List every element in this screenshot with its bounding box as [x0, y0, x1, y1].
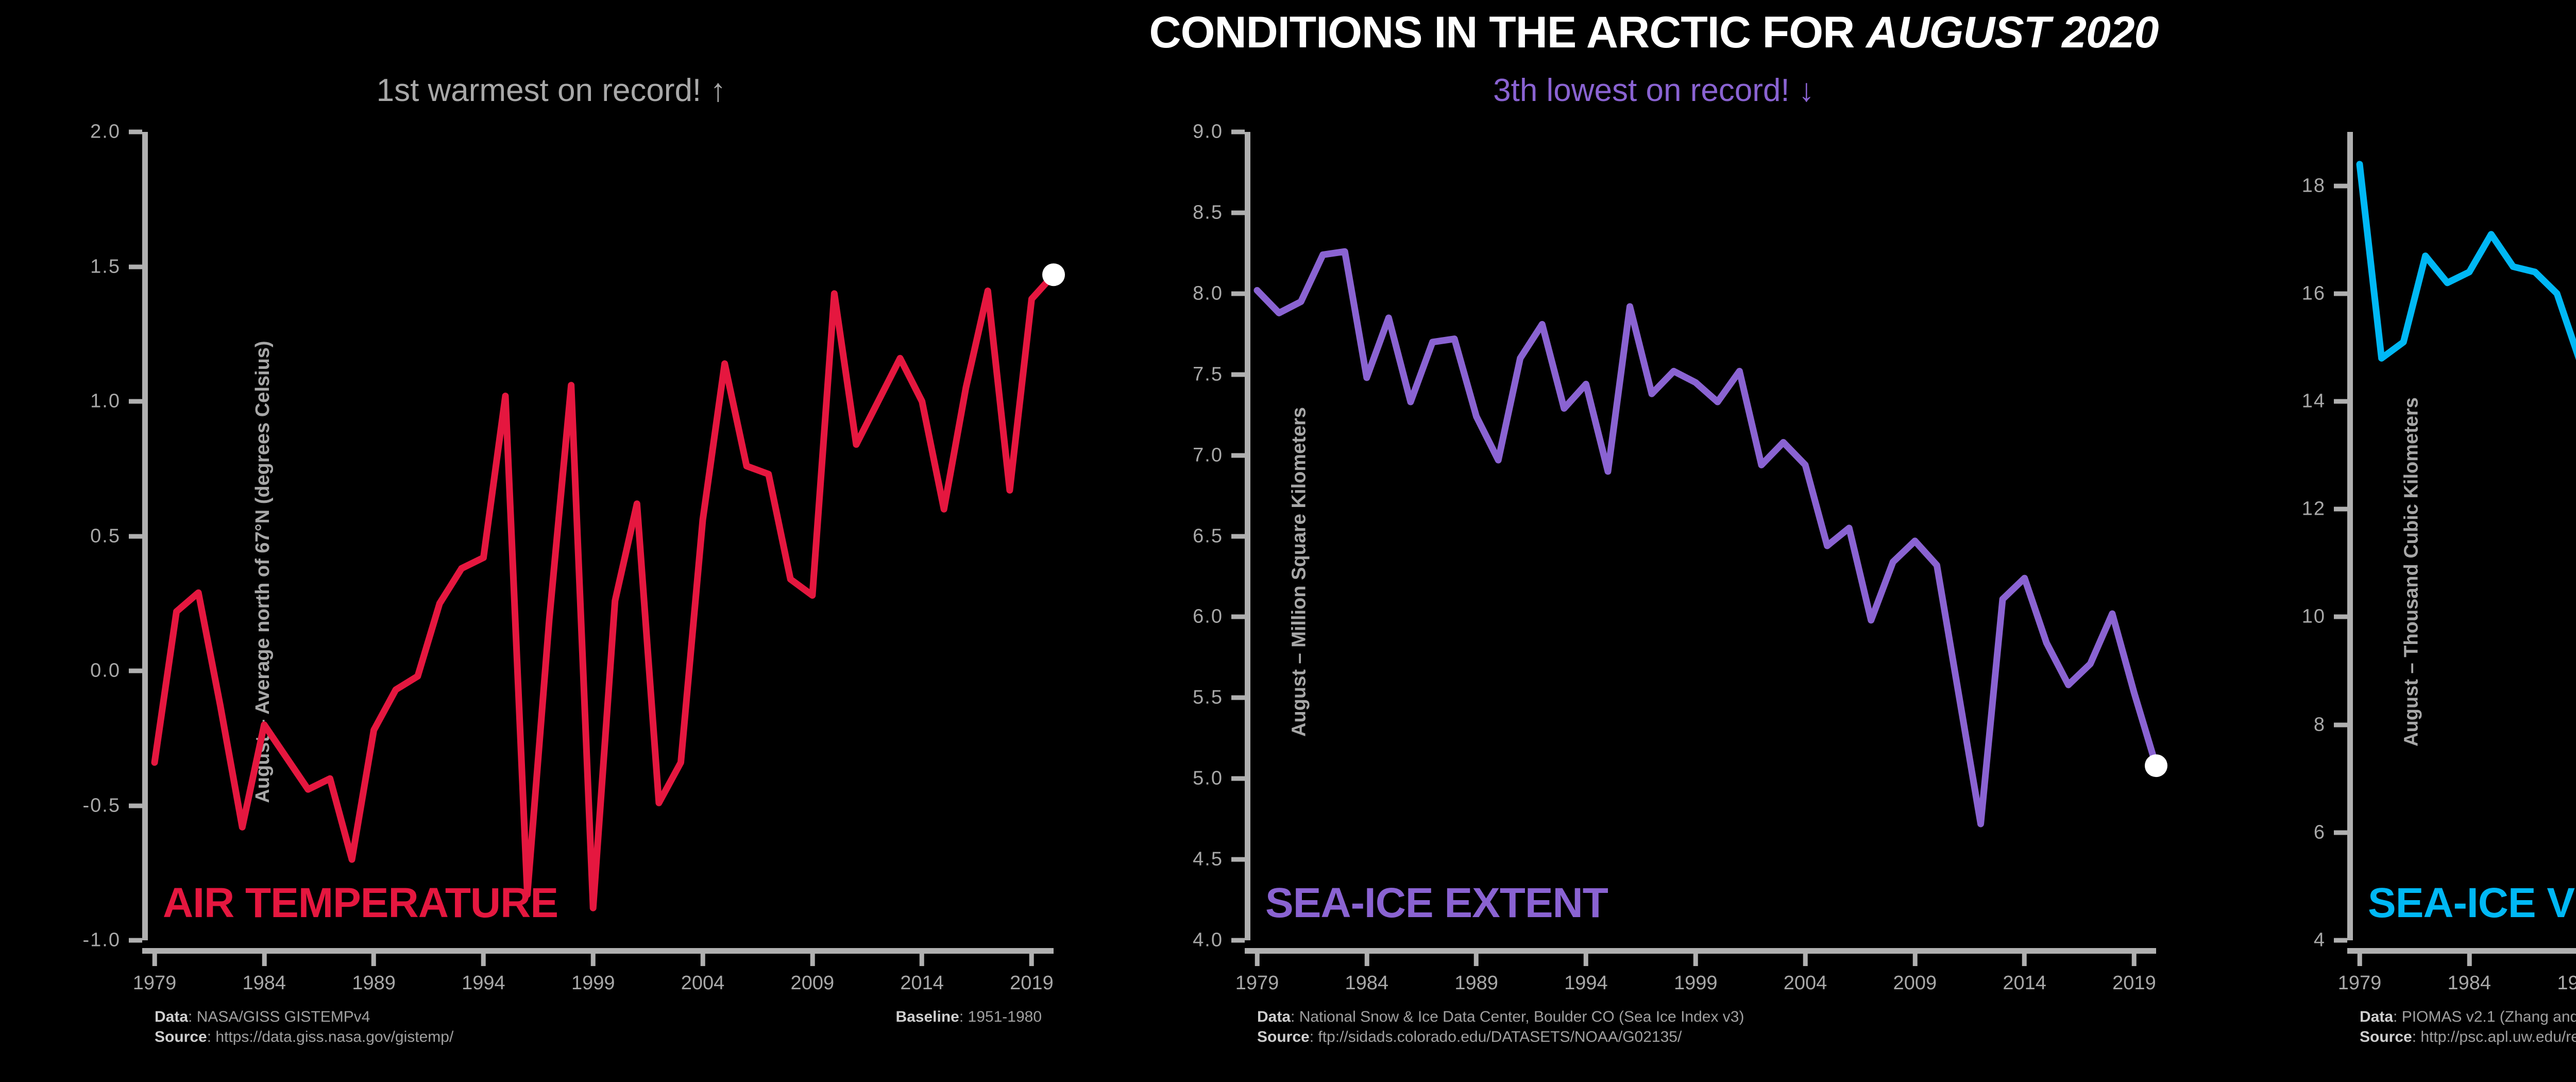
x-axis-tick: 2009	[1893, 954, 1937, 994]
y-axis-tick-mark	[129, 264, 142, 269]
x-axis-tick-label: 1989	[2557, 972, 2576, 994]
x-axis-tick-mark	[481, 954, 486, 966]
x-axis-tick: 1979	[2338, 954, 2382, 994]
series-label-sea-ice-volume: SEA-ICE VOLUME	[2368, 879, 2576, 927]
x-axis-tick-label: 2004	[1784, 972, 1827, 994]
y-axis-tick-label: -1.0	[83, 929, 121, 952]
footer-data-value: NASA/GISS GISTEMPv4	[197, 1008, 370, 1025]
y-axis-tick: 2.0	[90, 121, 142, 143]
y-axis-tick-mark	[1231, 696, 1245, 700]
y-axis-tick-label: 5.0	[1193, 768, 1223, 790]
footer-data-label: Data	[155, 1008, 188, 1025]
x-axis-tick: 1994	[1564, 954, 1608, 994]
y-axis-tick-mark	[1231, 130, 1245, 134]
x-axis-tick: 1994	[462, 954, 505, 994]
y-axis-tick: 14	[2302, 391, 2347, 413]
y-axis-tick-label: 1.0	[90, 391, 121, 413]
panel-air-temperature: 1st warmest on record! ↑ August – Averag…	[0, 67, 1103, 1077]
x-axis-tick: 1989	[2557, 954, 2576, 994]
y-axis-tick-mark	[1231, 615, 1245, 619]
latest-value-marker	[2145, 754, 2167, 777]
x-axis-tick: 1984	[243, 954, 286, 994]
y-axis-tick-mark	[129, 399, 142, 404]
y-axis-tick: 18	[2302, 175, 2347, 197]
y-axis-tick: 4.0	[1193, 929, 1245, 952]
y-axis-tick-mark	[1231, 291, 1245, 296]
x-axis-tick-label: 1989	[1454, 972, 1498, 994]
y-axis-tick: 8	[2314, 714, 2347, 736]
y-axis-tick: 7.5	[1193, 363, 1245, 385]
x-axis-tick: 1984	[2448, 954, 2492, 994]
y-axis-tick: 0.0	[90, 660, 142, 682]
y-axis-tick: 12	[2302, 498, 2347, 520]
plot-area-air-temperature: 2.01.51.00.50.0-0.5-1.019791984198919941…	[155, 132, 1054, 940]
plot-area-sea-ice-volume: 1816141210864197919841989199419992004200…	[2360, 132, 2576, 940]
y-axis-tick-mark	[2334, 615, 2347, 619]
x-axis-tick-label: 1989	[352, 972, 396, 994]
x-axis-tick: 1999	[571, 954, 615, 994]
footer-data-label: Data	[1257, 1008, 1291, 1025]
footer-source-value[interactable]: http://psc.apl.uw.edu/research/projects/…	[2420, 1028, 2576, 1045]
x-axis-tick-mark	[1255, 954, 1259, 966]
footer-source-value[interactable]: https://data.giss.nasa.gov/gistemp/	[215, 1028, 453, 1045]
y-axis-tick-mark	[1231, 372, 1245, 377]
y-axis-tick-label: 14	[2302, 391, 2326, 413]
panel-sea-ice-extent: 3th lowest on record! ↓ August – Million…	[1103, 67, 2205, 1077]
y-axis-tick-label: 7.0	[1193, 444, 1223, 466]
x-axis-tick: 2019	[2112, 954, 2156, 994]
x-axis-tick-label: 1979	[1235, 972, 1279, 994]
y-axis-tick-label: 8	[2314, 714, 2326, 736]
y-axis-tick-mark	[2334, 291, 2347, 296]
x-axis-tick-mark	[591, 954, 596, 966]
y-axis-tick-mark	[2334, 830, 2347, 835]
y-axis-tick-label: 6.5	[1193, 525, 1223, 547]
y-axis-tick: -0.5	[83, 794, 142, 817]
x-axis-tick-mark	[1584, 954, 1588, 966]
footer-data-value: PIOMAS v2.1 (Zhang and Rothrock, 2003; S…	[2402, 1008, 2576, 1025]
x-axis-tick-mark	[701, 954, 705, 966]
y-axis-tick-label: 16	[2302, 282, 2326, 305]
x-axis-tick-label: 1999	[1674, 972, 1718, 994]
footer-source-label: Source	[2360, 1028, 2412, 1045]
y-axis-spine	[1245, 132, 1250, 940]
footer-source-label: Source	[1257, 1028, 1310, 1045]
y-axis-tick: 8.0	[1193, 282, 1245, 305]
y-axis-tick: 1.0	[90, 391, 142, 413]
y-axis-tick-label: 8.5	[1193, 201, 1223, 224]
x-axis-tick: 1979	[1235, 954, 1279, 994]
data-line	[155, 275, 1054, 908]
y-axis-tick-mark	[2334, 183, 2347, 188]
x-axis-tick-mark	[1912, 954, 1917, 966]
y-axis-tick-label: 0.0	[90, 660, 121, 682]
panel-subtitle-sea-ice-volume: 3th lowest on record! ↓	[2205, 72, 2576, 109]
y-axis-tick-mark	[2334, 399, 2347, 404]
y-axis-tick-mark	[1231, 534, 1245, 538]
y-axis-tick: 5.5	[1193, 687, 1245, 709]
page-title-prefix: CONDITIONS IN THE ARCTIC FOR	[1149, 8, 1867, 57]
y-axis-tick-mark	[2334, 938, 2347, 943]
x-axis-tick: 2004	[681, 954, 725, 994]
y-axis-tick-label: 0.5	[90, 525, 121, 547]
footer-source-value[interactable]: ftp://sidads.colorado.edu/DATASETS/NOAA/…	[1318, 1028, 1682, 1045]
x-axis-tick-label: 1984	[243, 972, 286, 994]
x-axis-tick-mark	[1803, 954, 1808, 966]
x-axis-tick-label: 1979	[133, 972, 177, 994]
y-axis-spine	[142, 132, 148, 940]
footer-baseline-label: Baseline	[895, 1008, 959, 1025]
x-axis-tick-mark	[920, 954, 924, 966]
footer-baseline-value: 1951-1980	[968, 1008, 1042, 1025]
y-axis-tick: 16	[2302, 282, 2347, 305]
series-sea-ice-volume	[2360, 132, 2576, 940]
x-axis-spine	[1245, 948, 2156, 954]
footer-source-label: Source	[155, 1028, 207, 1045]
panel-sea-ice-volume: 3th lowest on record! ↓ August – Thousan…	[2205, 67, 2576, 1077]
x-axis-tick: 1979	[133, 954, 177, 994]
x-axis-tick: 1989	[1454, 954, 1498, 994]
y-axis-tick-mark	[1231, 453, 1245, 458]
y-axis-tick-mark	[1231, 938, 1245, 943]
footer-data-label: Data	[2360, 1008, 2393, 1025]
footer-sea-ice-extent: Data: National Snow & Ice Data Center, B…	[1257, 1007, 2184, 1047]
panel-container: 1st warmest on record! ↑ August – Averag…	[0, 67, 2576, 1077]
x-axis-tick-mark	[2467, 954, 2471, 966]
x-axis-tick: 2004	[1784, 954, 1827, 994]
y-axis-tick-label: 8.0	[1193, 282, 1223, 305]
y-axis-tick-label: 2.0	[90, 121, 121, 143]
y-axis-tick: 0.5	[90, 525, 142, 547]
y-axis-tick: 8.5	[1193, 201, 1245, 224]
x-axis-tick-mark	[2022, 954, 2027, 966]
y-axis-tick-mark	[129, 938, 142, 943]
x-axis-tick-label: 1999	[571, 972, 615, 994]
y-axis-tick: 5.0	[1193, 768, 1245, 790]
page-title: CONDITIONS IN THE ARCTIC FOR AUGUST 2020	[0, 7, 2576, 58]
y-axis-tick: 9.0	[1193, 121, 1245, 143]
series-label-sea-ice-extent: SEA-ICE EXTENT	[1265, 879, 1608, 927]
footer-data-value: National Snow & Ice Data Center, Boulder…	[1299, 1008, 1744, 1025]
y-axis-tick-mark	[2334, 507, 2347, 512]
x-axis-tick: 2009	[791, 954, 835, 994]
x-axis-tick: 2014	[2003, 954, 2046, 994]
y-axis-tick-mark	[129, 669, 142, 673]
x-axis-tick-mark	[2357, 954, 2362, 966]
y-axis-tick-label: 1.5	[90, 256, 121, 278]
x-axis-tick-mark	[262, 954, 266, 966]
y-axis-tick: 6.0	[1193, 606, 1245, 628]
y-axis-tick-label: 9.0	[1193, 121, 1223, 143]
x-axis-tick-label: 2004	[681, 972, 725, 994]
x-axis-tick-mark	[1693, 954, 1698, 966]
x-axis-tick-mark	[371, 954, 376, 966]
panel-subtitle-air-temperature: 1st warmest on record! ↑	[0, 72, 1103, 109]
plot-area-sea-ice-extent: 9.08.58.07.57.06.56.05.55.04.54.01979198…	[1257, 132, 2156, 940]
y-axis-tick-label: 6	[2314, 821, 2326, 843]
data-line	[1257, 251, 2156, 824]
y-axis-tick-label: 4.0	[1193, 929, 1223, 952]
x-axis-tick-label: 1979	[2338, 972, 2382, 994]
y-axis-tick: -1.0	[83, 929, 142, 952]
y-axis-tick: 6	[2314, 821, 2347, 843]
x-axis-tick-label: 2014	[2003, 972, 2046, 994]
x-axis-tick: 2014	[900, 954, 944, 994]
y-axis-tick: 10	[2302, 606, 2347, 628]
x-axis-tick-label: 1994	[462, 972, 505, 994]
series-sea-ice-extent	[1257, 132, 2156, 940]
latest-value-marker	[1042, 263, 1065, 286]
panel-subtitle-sea-ice-extent: 3th lowest on record! ↓	[1103, 72, 2205, 109]
y-axis-tick-mark	[129, 130, 142, 134]
y-axis-tick-mark	[129, 534, 142, 538]
footer-air-temperature: Data: NASA/GISS GISTEMPv4 Baseline: 1951…	[155, 1007, 1082, 1047]
y-axis-tick-mark	[2334, 722, 2347, 727]
y-axis-tick-label: 4	[2314, 929, 2326, 952]
y-axis-tick: 1.5	[90, 256, 142, 278]
x-axis-tick-label: 2014	[900, 972, 944, 994]
y-axis-tick-label: 5.5	[1193, 687, 1223, 709]
y-axis-tick: 4	[2314, 929, 2347, 952]
x-axis-tick-mark	[152, 954, 157, 966]
x-axis-tick-mark	[2132, 954, 2137, 966]
x-axis-tick-label: 2009	[791, 972, 835, 994]
data-line	[2360, 164, 2576, 876]
series-label-air-temperature: AIR TEMPERATURE	[163, 879, 558, 927]
y-axis-tick: 4.5	[1193, 849, 1245, 871]
y-axis-spine	[2347, 132, 2353, 940]
x-axis-tick-label: 2009	[1893, 972, 1937, 994]
x-axis-tick-mark	[1364, 954, 1369, 966]
series-air-temperature	[155, 132, 1054, 940]
y-axis-tick: 6.5	[1193, 525, 1245, 547]
x-axis-tick: 1999	[1674, 954, 1718, 994]
x-axis-tick-label: 1994	[1564, 972, 1608, 994]
y-axis-tick-label: 18	[2302, 175, 2326, 197]
y-axis-tick-mark	[1231, 857, 1245, 862]
x-axis-tick-label: 1984	[2448, 972, 2492, 994]
y-axis-tick-label: 10	[2302, 606, 2326, 628]
x-axis-tick-label: 2019	[1010, 972, 1054, 994]
x-axis-tick: 1989	[352, 954, 396, 994]
x-axis-tick-mark	[810, 954, 815, 966]
footer-sea-ice-volume: Data: PIOMAS v2.1 (Zhang and Rothrock, 2…	[2360, 1007, 2576, 1047]
page-title-emphasis: AUGUST 2020	[1866, 8, 2158, 57]
x-axis-tick: 1984	[1345, 954, 1389, 994]
y-axis-tick-mark	[1231, 776, 1245, 781]
y-axis-tick-label: 6.0	[1193, 606, 1223, 628]
x-axis-spine	[2347, 948, 2576, 954]
y-axis-tick: 7.0	[1193, 444, 1245, 466]
x-axis-tick-mark	[1474, 954, 1479, 966]
y-axis-tick-label: -0.5	[83, 794, 121, 817]
y-axis-tick-label: 4.5	[1193, 849, 1223, 871]
x-axis-tick: 2019	[1010, 954, 1054, 994]
x-axis-tick-label: 2019	[2112, 972, 2156, 994]
x-axis-tick-mark	[1029, 954, 1034, 966]
y-axis-tick-mark	[1231, 210, 1245, 215]
x-axis-spine	[142, 948, 1054, 954]
y-axis-tick-mark	[129, 803, 142, 808]
x-axis-tick-label: 1984	[1345, 972, 1389, 994]
y-axis-tick-label: 12	[2302, 498, 2326, 520]
y-axis-tick-label: 7.5	[1193, 363, 1223, 385]
